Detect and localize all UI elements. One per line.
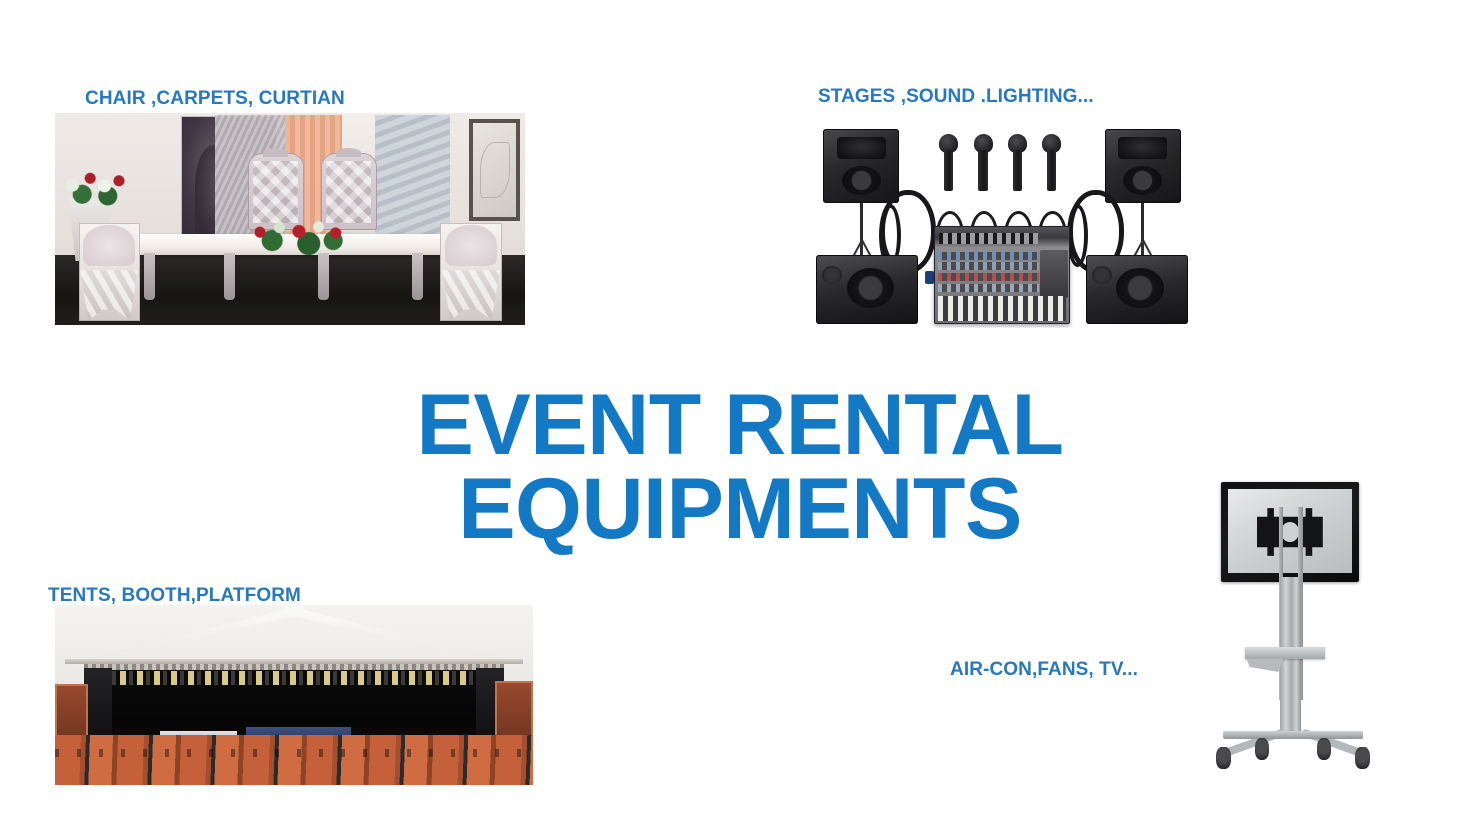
microphone-body [1047, 150, 1056, 190]
caption-stages-sound-lighting: STAGES ,SOUND .LIGHTING... [818, 86, 1094, 108]
page-title: EVENT RENTAL EQUIPMENTS [340, 383, 1140, 552]
trolley-caster-wheel [1255, 738, 1269, 760]
trolley-base-bar [1223, 731, 1364, 740]
flat-screen-tv [1221, 482, 1359, 581]
trolley-caster-wheel [1355, 747, 1369, 769]
pa-speaker-right [1105, 129, 1181, 202]
mixer-knob-row [938, 284, 1039, 292]
pa-speaker-left [823, 129, 899, 202]
page-title-line-1: EVENT RENTAL [340, 383, 1140, 467]
mixer-knob-row [938, 273, 1039, 281]
banquet-table-leg [144, 253, 154, 300]
banquet-table-leg [318, 253, 328, 300]
microphone-2 [974, 134, 993, 190]
stage-light-row [103, 671, 485, 685]
banquet-table-leg [412, 253, 422, 300]
trolley-caster-wheel [1216, 747, 1230, 769]
trolley-caster-wheel [1317, 738, 1331, 760]
bench-table-rows [55, 735, 533, 785]
trolley-equipment-shelf [1245, 647, 1325, 659]
banquet-wall-mirror [469, 119, 521, 221]
caption-chairs-carpets-curtain: CHAIR ,CARPETS, CURTIAN [85, 88, 345, 110]
mixer-knob-row [938, 252, 1039, 260]
microphone-body [1013, 150, 1022, 190]
mixer-input-jacks [939, 233, 1037, 244]
microphone-body [978, 150, 987, 190]
photo-chairs-carpets-curtain [55, 113, 525, 325]
slide-canvas: CHAIR ,CARPETS, CURTIAN STAGES ,SOUND .L… [0, 0, 1458, 820]
microphone-body [944, 150, 953, 190]
microphone-1 [939, 134, 958, 190]
caption-tents-booth-platform: TENTS, BOOTH,PLATFORM [48, 585, 301, 607]
photo-stages-sound-lighting [812, 112, 1192, 328]
caption-aircon-fans-tv: AIR-CON,FANS, TV... [950, 659, 1138, 681]
microphone-4 [1042, 134, 1061, 190]
banquet-table-leg [224, 253, 234, 300]
banquet-rose-centerpiece [238, 217, 360, 255]
mixer-master-section [1040, 250, 1067, 299]
stage-monitor-left [816, 255, 919, 324]
microphone-3 [1008, 134, 1027, 190]
mixer-fader-bank [938, 296, 1067, 320]
banquet-covered-chair-left [79, 223, 140, 321]
mixer-knob-row [938, 262, 1039, 270]
photo-tents-booth-platform [55, 605, 533, 785]
banquet-covered-chair-right [440, 223, 501, 321]
page-title-line-2: EQUIPMENTS [340, 467, 1140, 551]
powered-mixing-console [934, 226, 1071, 323]
photo-aircon-fans-tv [1213, 478, 1373, 770]
stage-monitor-right [1086, 255, 1189, 324]
banquet-pedestal-flowers [55, 164, 135, 206]
